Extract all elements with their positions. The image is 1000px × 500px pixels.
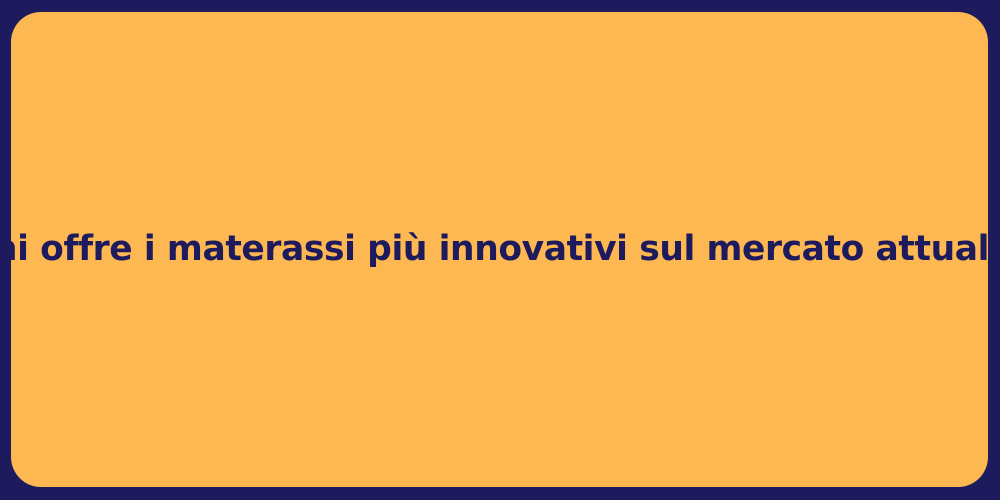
banner-root: Chi offre i materassi più innovativi sul… bbox=[0, 0, 1000, 500]
page-title: Chi offre i materassi più innovativi sul… bbox=[0, 228, 1000, 272]
headline-card-panel: Chi offre i materassi più innovativi sul… bbox=[11, 12, 988, 487]
